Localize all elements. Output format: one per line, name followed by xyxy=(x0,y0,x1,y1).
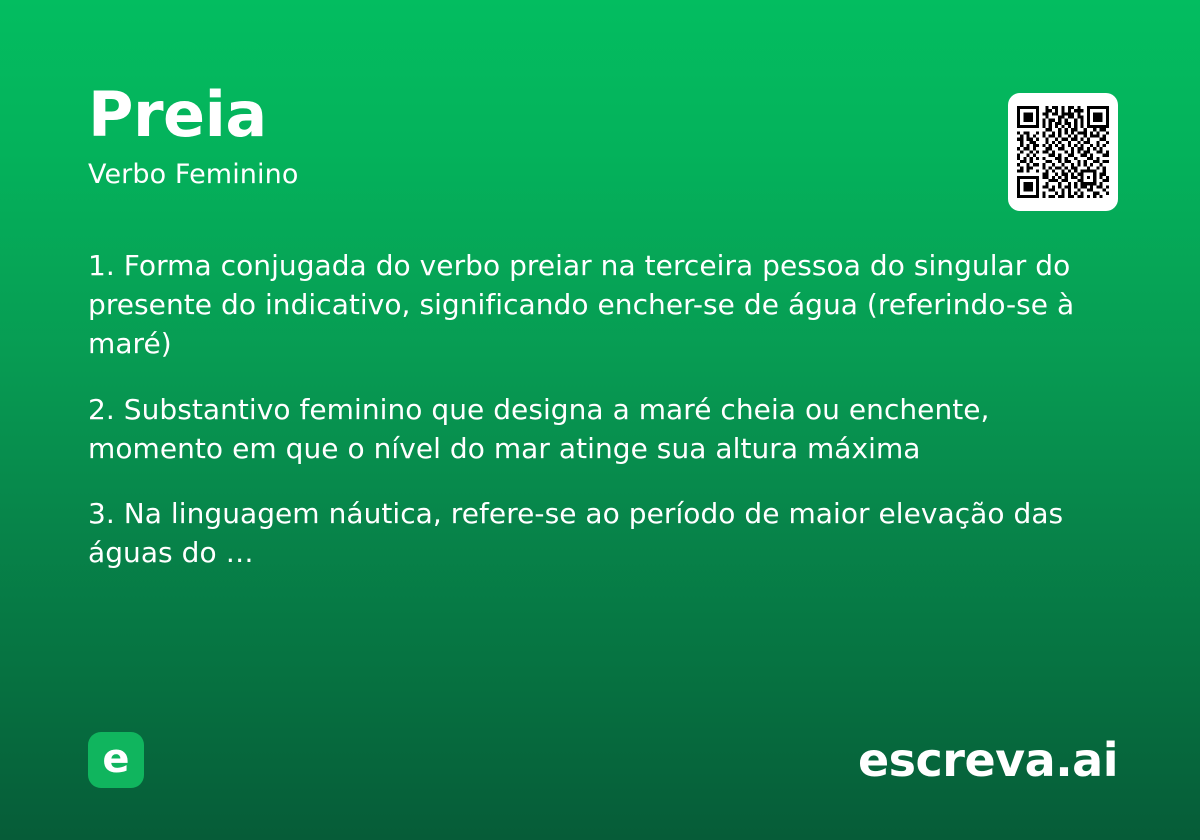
card-footer: e escreva.ai xyxy=(88,732,1118,788)
brand-wordmark: escreva.ai xyxy=(858,737,1118,783)
brand-logo-letter: e xyxy=(102,739,129,779)
card-header: Preia Verbo Feminino xyxy=(88,84,1112,190)
dictionary-card: Preia Verbo Feminino xyxy=(0,0,1200,840)
qr-code-container[interactable] xyxy=(1008,93,1118,211)
qr-code-icon xyxy=(1017,106,1109,198)
brand-logo: e xyxy=(88,732,144,788)
definition-list: 1. Forma conjugada do verbo preiar na te… xyxy=(88,246,1118,572)
definition-item: 1. Forma conjugada do verbo preiar na te… xyxy=(88,246,1118,364)
definition-item: 3. Na linguagem náutica, refere-se ao pe… xyxy=(88,494,1118,572)
page-title: Preia xyxy=(88,84,1112,146)
definition-item: 2. Substantivo feminino que designa a ma… xyxy=(88,390,1118,468)
word-class-label: Verbo Feminino xyxy=(88,160,1112,190)
